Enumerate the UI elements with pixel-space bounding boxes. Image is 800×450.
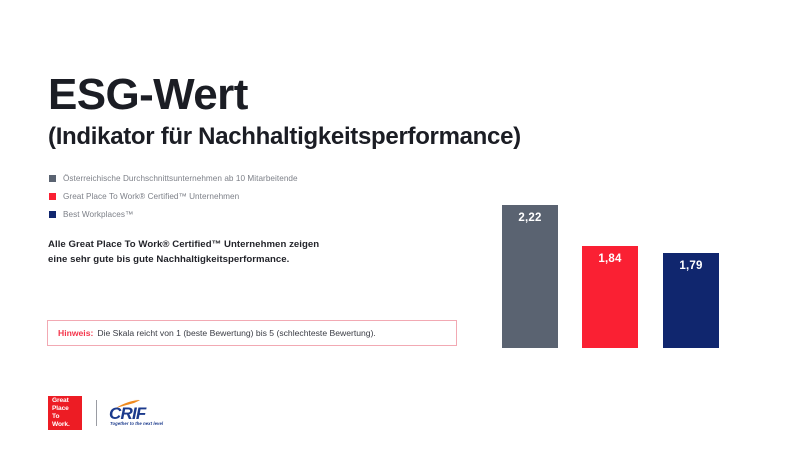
statement-line-1: Alle Great Place To Work® Certified™ Unt… <box>48 238 319 253</box>
page-subtitle: (Indikator für Nachhaltigkeitsperformanc… <box>48 125 521 149</box>
legend-label-certified: Great Place To Work® Certified™ Unterneh… <box>63 192 239 201</box>
slide-root: ESG-Wert (Indikator für Nachhaltigkeitsp… <box>0 0 800 450</box>
legend-swatch-gray <box>49 175 56 182</box>
legend-item-average-companies: Österreichische Durchschnittsunternehmen… <box>49 170 449 186</box>
footer-logos: Great Place To Work. CRIF Together to th… <box>48 396 175 430</box>
chart-legend: Österreichische Durchschnittsunternehmen… <box>49 170 449 224</box>
crif-tagline: Together to the next level <box>110 421 163 426</box>
chart-plot-area: 2,22 1,84 1,79 <box>490 190 740 348</box>
note-label: Hinweis: <box>58 328 93 338</box>
crif-wordmark: CRIF <box>109 405 145 422</box>
bar-certified: 1,84 <box>582 246 638 348</box>
bar-average-companies: 2,22 <box>502 205 558 348</box>
legend-item-best-workplaces: Best Workplaces™ <box>49 206 449 222</box>
crif-logo: CRIF Together to the next level <box>109 398 175 428</box>
gptw-logo-line-4: Work. <box>52 421 82 429</box>
legend-item-certified: Great Place To Work® Certified™ Unterneh… <box>49 188 449 204</box>
legend-swatch-red <box>49 193 56 200</box>
page-title: ESG-Wert <box>48 73 248 117</box>
legend-swatch-navy <box>49 211 56 218</box>
gptw-logo-line-2: Place <box>52 405 82 413</box>
bar-value-average-companies: 2,22 <box>502 212 558 224</box>
gptw-logo-line-1: Great <box>52 397 82 405</box>
gptw-logo-line-3: To <box>52 413 82 421</box>
legend-label-best-workplaces: Best Workplaces™ <box>63 210 133 219</box>
statement-line-2: eine sehr gute bis gute Nachhaltigkeitsp… <box>48 253 319 268</box>
note-text: Die Skala reicht von 1 (beste Bewertung)… <box>97 328 375 338</box>
bar-value-best-workplaces: 1,79 <box>663 260 719 272</box>
great-place-to-work-logo: Great Place To Work. <box>48 396 82 430</box>
bar-best-workplaces: 1,79 <box>663 253 719 348</box>
statement-text: Alle Great Place To Work® Certified™ Unt… <box>48 238 319 268</box>
logo-divider <box>96 400 97 426</box>
bar-value-certified: 1,84 <box>582 253 638 265</box>
bar-chart: 2,22 1,84 1,79 <box>490 190 740 350</box>
legend-label-average-companies: Österreichische Durchschnittsunternehmen… <box>63 174 298 183</box>
note-box: Hinweis: Die Skala reicht von 1 (beste B… <box>47 320 457 346</box>
